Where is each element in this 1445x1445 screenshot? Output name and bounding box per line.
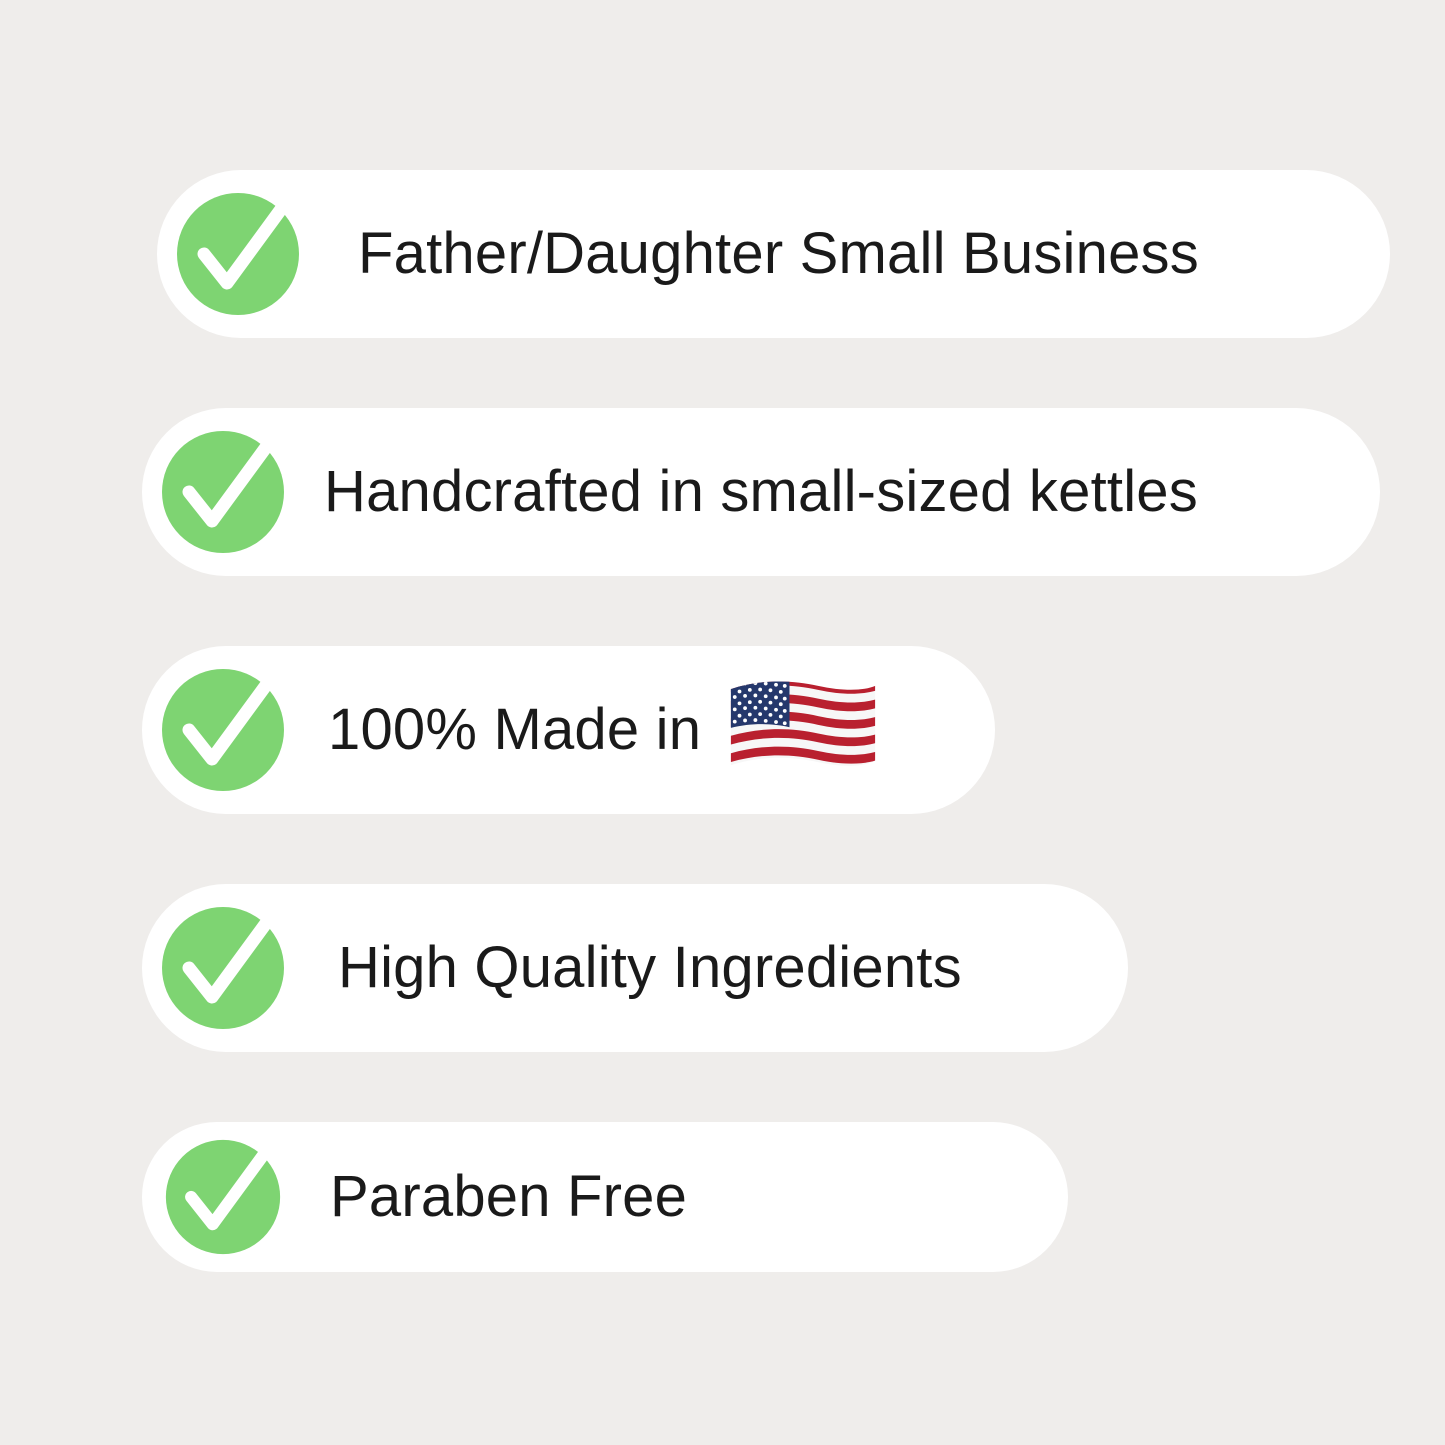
feature-label-with-flag: 100% Made in [328, 680, 995, 780]
feature-label: Father/Daughter Small Business [358, 225, 1390, 283]
feature-row: Paraben Free [142, 1122, 1068, 1272]
green-check-circle-icon [160, 429, 286, 555]
feature-benefits-graphic: Father/Daughter Small Business Handcraft… [0, 0, 1445, 1445]
feature-list: Father/Daughter Small Business Handcraft… [0, 170, 1445, 1272]
feature-label: 100% Made in [328, 701, 701, 759]
feature-label: Handcrafted in small-sized kettles [324, 463, 1380, 521]
feature-label: High Quality Ingredients [338, 939, 1128, 997]
green-check-circle-icon [175, 191, 301, 317]
green-check-circle-icon [160, 905, 286, 1031]
feature-row: Father/Daughter Small Business [157, 170, 1390, 338]
feature-row: High Quality Ingredients [142, 884, 1128, 1052]
feature-row: 100% Made in [142, 646, 995, 814]
feature-row: Handcrafted in small-sized kettles [142, 408, 1380, 576]
us-flag-icon [727, 678, 879, 778]
green-check-circle-icon [164, 1138, 282, 1256]
green-check-circle-icon [160, 667, 286, 793]
feature-label: Paraben Free [330, 1168, 1068, 1226]
